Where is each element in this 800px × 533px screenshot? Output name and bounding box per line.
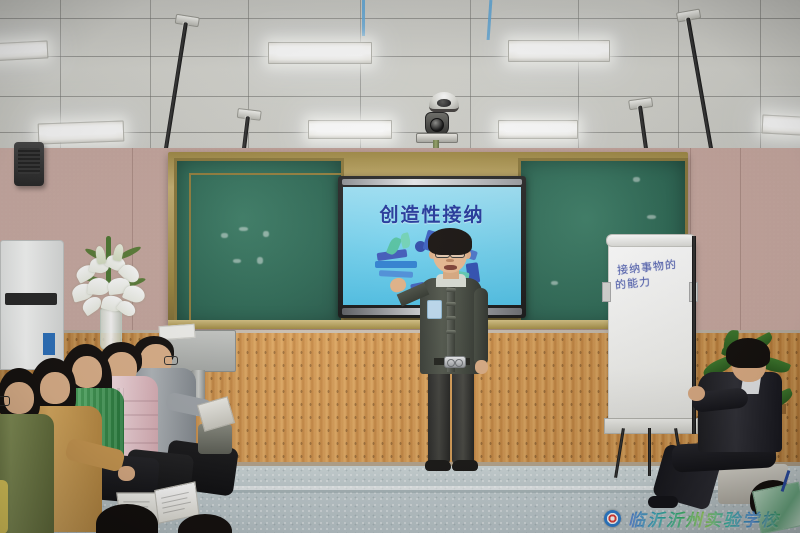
- flipchart-tray: [604, 418, 698, 434]
- ceiling-lamp: [508, 40, 610, 62]
- smart-board-top-bar: [342, 179, 522, 185]
- ceiling-lamp: [0, 40, 48, 61]
- ceiling-mic-boom: [638, 106, 651, 152]
- ceiling-lamp: [498, 120, 578, 139]
- flipchart-line-2: 的能力: [614, 273, 651, 293]
- ceiling-lamp: [38, 121, 125, 145]
- presenter-shoe: [452, 460, 478, 471]
- slide-title: 创造性接纳: [343, 200, 521, 227]
- presenter-hair: [428, 228, 472, 255]
- air-conditioner-icon: [0, 240, 64, 370]
- dome-camera-icon: [429, 92, 459, 112]
- presenter-name-badge: [427, 300, 442, 319]
- attendee-olive-jacket: [0, 368, 72, 533]
- flipchart-clip: [602, 282, 611, 302]
- watermark: 临沂沂州实验学校: [604, 506, 794, 530]
- flipchart-paper: 接纳事物的 的能力: [608, 240, 694, 424]
- easel-leg: [614, 428, 625, 478]
- wall-speaker-icon: [14, 142, 44, 186]
- chalkboard-panel-left: [174, 158, 344, 328]
- lecture-photo: 创造性接纳: [0, 0, 800, 533]
- presenter-shoe: [425, 460, 451, 471]
- attendee-hair: [726, 338, 770, 368]
- ceiling: [0, 0, 800, 152]
- belt-buckle: [444, 356, 466, 368]
- ceiling-lamp: [308, 120, 392, 139]
- watermark-text: 临沂沂州实验学校: [628, 506, 780, 531]
- flipchart-roll: [606, 234, 696, 247]
- flower-vase: [62, 236, 158, 348]
- flipchart-easel[interactable]: 接纳事物的 的能力: [602, 232, 698, 478]
- presenter: [392, 228, 510, 476]
- easel-leg: [648, 428, 651, 476]
- school-crest-icon: [604, 510, 621, 527]
- ceiling-lamp: [268, 42, 372, 64]
- ceiling-lamp: [762, 114, 800, 136]
- ceiling-mic-boom: [234, 116, 246, 152]
